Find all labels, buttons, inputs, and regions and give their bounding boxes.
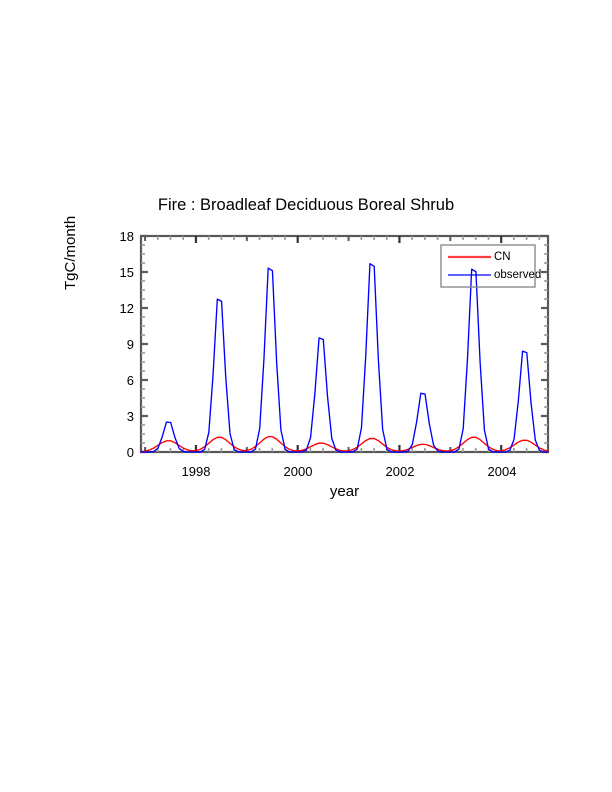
data-series-layer xyxy=(141,264,548,452)
figure: Fire : Broadleaf Deciduous Boreal Shrub … xyxy=(0,0,612,792)
plot-area xyxy=(0,0,612,792)
axis-ticks xyxy=(141,236,548,452)
axis-frame xyxy=(141,236,548,452)
page-canvas: Fire : Broadleaf Deciduous Boreal Shrub … xyxy=(0,0,612,792)
legend-box xyxy=(441,245,535,287)
